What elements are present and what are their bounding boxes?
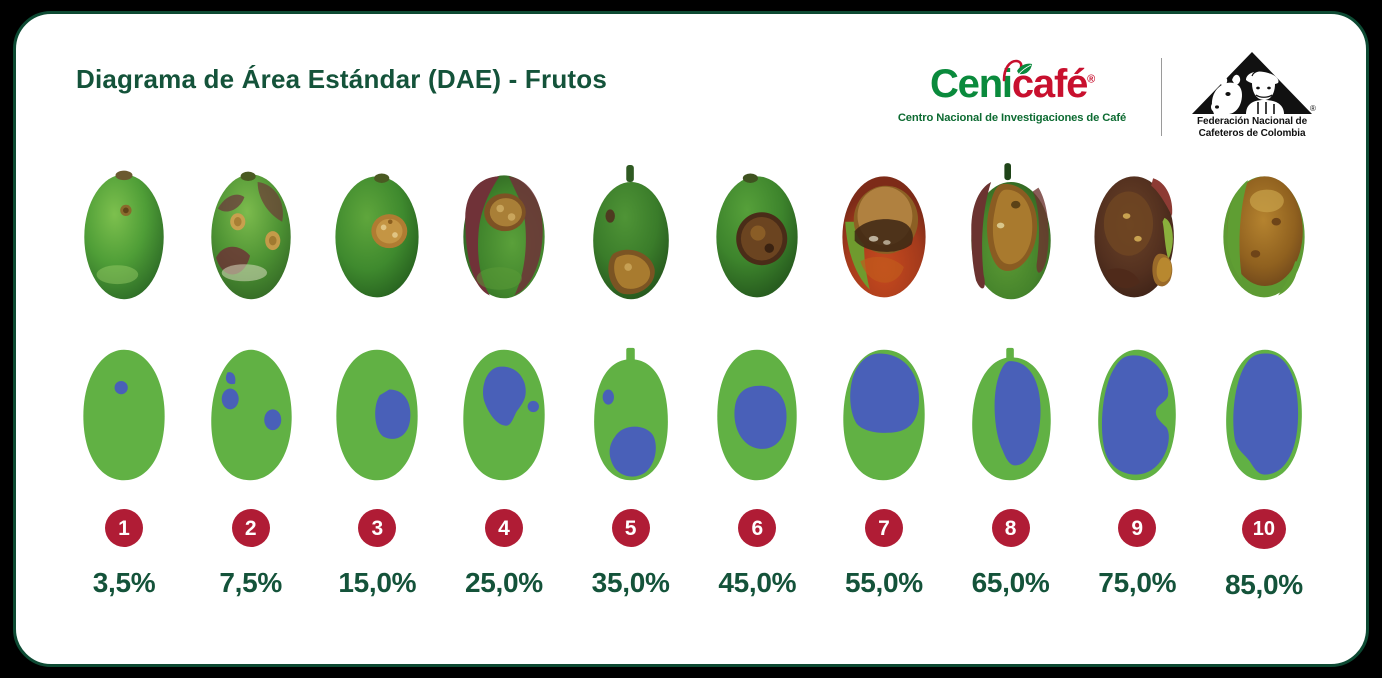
coffee-fruit-photo-5	[571, 154, 691, 314]
grade-badge: 8	[992, 509, 1030, 547]
grade-badge: 6	[738, 509, 776, 547]
coffee-fruit-photo-7	[824, 154, 944, 314]
coffee-fruit-photo-6	[697, 154, 817, 314]
cenicafe-registered-mark: ®	[1087, 74, 1094, 86]
scale-column: 10 85,0%	[1204, 154, 1324, 601]
grade-badge: 3	[358, 509, 396, 547]
fedecafe-name-line2: Cafeteros de Colombia	[1184, 128, 1320, 140]
coffee-fruit-diagram-3	[317, 332, 437, 497]
coffee-fruit-diagram-2	[191, 332, 311, 497]
scale-column: 5 35,0%	[571, 154, 691, 599]
scale-column: 4 25,0%	[444, 154, 564, 599]
grade-badge: 4	[485, 509, 523, 547]
coffee-fruit-diagram-4	[444, 332, 564, 497]
severity-percent: 7,5%	[219, 567, 282, 599]
fedecafe-registered-mark: ®	[1310, 104, 1316, 113]
fedecafe-name: Federación Nacional de Cafeteros de Colo…	[1184, 116, 1320, 140]
severity-percent: 3,5%	[93, 567, 156, 599]
logo-divider	[1161, 58, 1162, 136]
coffee-leaf-icon	[1000, 58, 1034, 84]
cenicafe-logo: Cenicafé® Centro Nacional de Investigaci…	[887, 58, 1137, 134]
scale-column: 9 75,0%	[1077, 154, 1197, 599]
card-header: Diagrama de Área Estándar (DAE) - Frutos…	[16, 14, 1366, 134]
dae-card: Diagrama de Área Estándar (DAE) - Frutos…	[13, 11, 1369, 667]
scale-column: 8 65,0%	[951, 154, 1071, 599]
scale-column: 6 45,0%	[697, 154, 817, 599]
grade-badge: 1	[105, 509, 143, 547]
coffee-fruit-photo-10	[1204, 154, 1324, 314]
scale-column: 2 7,5%	[191, 154, 311, 599]
scale-column: 1 3,5%	[64, 154, 184, 599]
coffee-fruit-photo-3	[317, 154, 437, 314]
coffee-fruit-photo-9	[1077, 154, 1197, 314]
fedecafe-name-line1: Federación Nacional de	[1184, 116, 1320, 128]
severity-percent: 35,0%	[592, 567, 670, 599]
severity-percent: 45,0%	[718, 567, 796, 599]
coffee-fruit-diagram-7	[824, 332, 944, 497]
page-title: Diagrama de Área Estándar (DAE) - Frutos	[76, 64, 607, 95]
grade-badge: 5	[612, 509, 650, 547]
coffee-fruit-photo-2	[191, 154, 311, 314]
coffee-fruit-diagram-5	[571, 332, 691, 497]
severity-percent: 85,0%	[1225, 569, 1303, 601]
coffee-fruit-diagram-1	[64, 332, 184, 497]
juan-valdez-mountain-icon	[1184, 50, 1320, 116]
coffee-fruit-photo-1	[64, 154, 184, 314]
coffee-fruit-diagram-8	[951, 332, 1071, 497]
grade-badge: 2	[232, 509, 270, 547]
coffee-fruit-diagram-6	[697, 332, 817, 497]
grade-badge: 10	[1242, 509, 1286, 549]
coffee-fruit-photo-8	[951, 154, 1071, 314]
screenshot-root: Diagrama de Área Estándar (DAE) - Frutos…	[0, 0, 1382, 678]
coffee-fruit-photo-4	[444, 154, 564, 314]
severity-scale: 1 3,5%	[64, 154, 1324, 654]
coffee-fruit-diagram-9	[1077, 332, 1197, 497]
scale-column: 7 55,0%	[824, 154, 944, 599]
coffee-fruit-diagram-10	[1204, 332, 1324, 497]
fedecafe-logo: ® Federación Nacional de Cafeteros de Co…	[1184, 50, 1320, 144]
severity-percent: 55,0%	[845, 567, 923, 599]
grade-badge: 7	[865, 509, 903, 547]
severity-percent: 25,0%	[465, 567, 543, 599]
cenicafe-tagline: Centro Nacional de Investigaciones de Ca…	[887, 112, 1137, 124]
severity-percent: 75,0%	[1098, 567, 1176, 599]
grade-badge: 9	[1118, 509, 1156, 547]
scale-column: 3 15,0%	[317, 154, 437, 599]
severity-percent: 15,0%	[338, 567, 416, 599]
severity-percent: 65,0%	[972, 567, 1050, 599]
